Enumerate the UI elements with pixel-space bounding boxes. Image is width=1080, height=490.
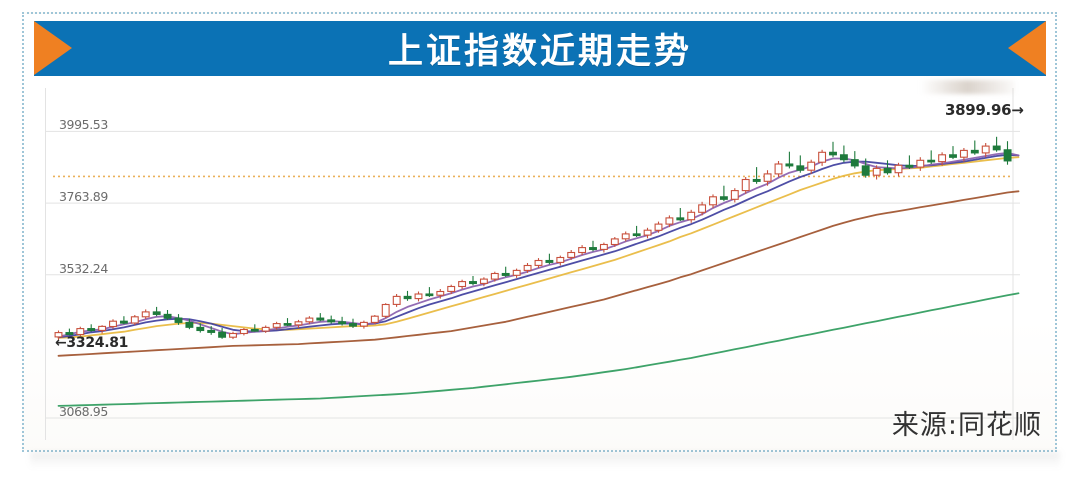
- page-title: 上证指数近期走势: [34, 21, 1046, 76]
- figure-shadow: [30, 452, 1060, 468]
- y-axis-label-3: 3068.95: [59, 404, 108, 419]
- chart-plot-area: [45, 88, 1020, 440]
- last-price-annotation: 3899.96→: [945, 101, 1024, 119]
- period-low-annotation: ←3324.81: [55, 335, 128, 351]
- source-attribution: 来源:同花顺: [892, 403, 1042, 442]
- paper-smudge: [920, 80, 1015, 94]
- title-banner: 上证指数近期走势: [34, 21, 1046, 76]
- y-axis-label-2: 3532.24: [59, 261, 108, 276]
- y-axis-label-0: 3995.53: [59, 117, 108, 132]
- y-axis-label-1: 3763.89: [59, 189, 108, 204]
- candlestick-chart: [45, 88, 1020, 440]
- stock-chart-figure: 上证指数近期走势 3995.53 3763.89 3532.24 3068.95…: [0, 0, 1080, 490]
